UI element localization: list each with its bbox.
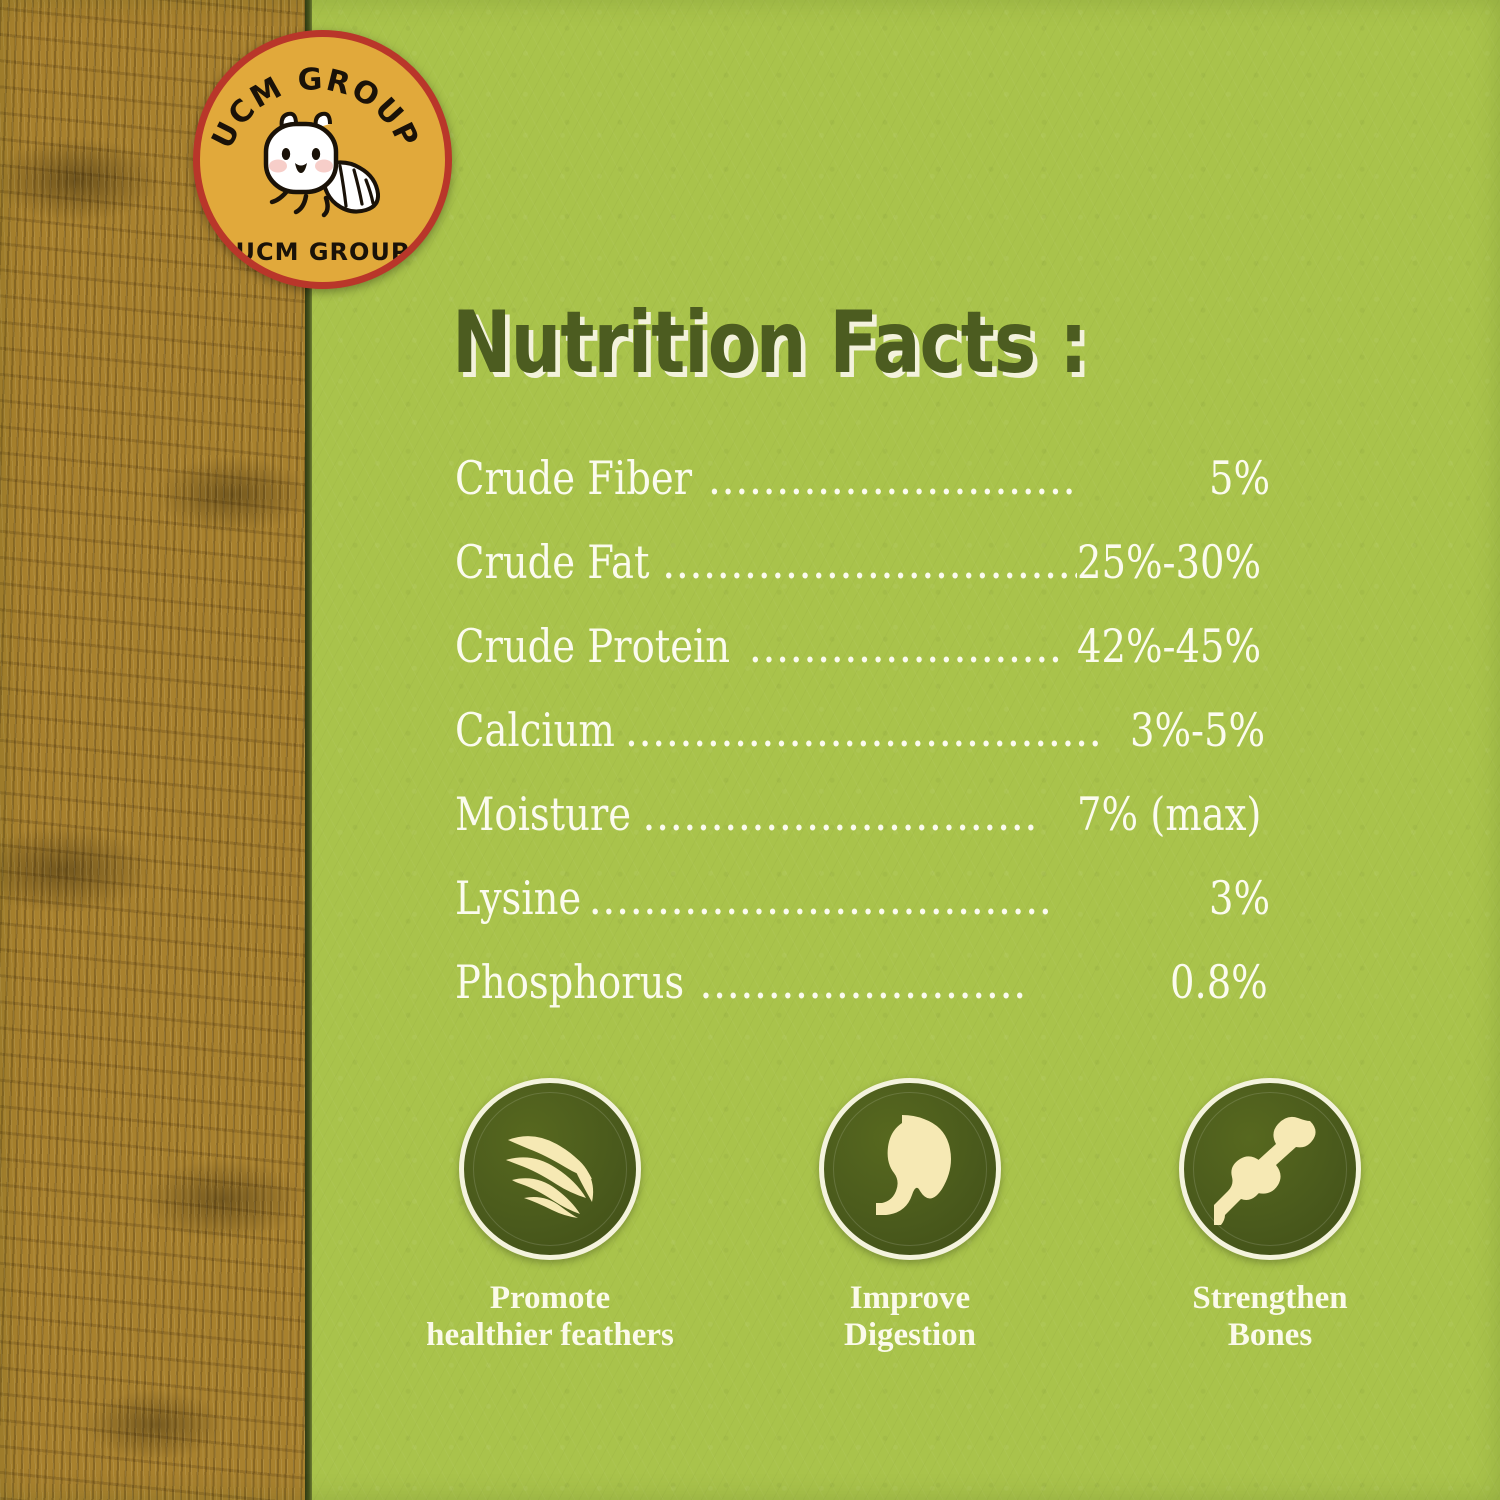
- mealworm-mascot-icon: [248, 110, 398, 218]
- fact-dot-leader: .......................: [749, 623, 1077, 669]
- stomach-icon: [862, 1111, 958, 1227]
- benefit-improve-digestion: Improve Digestion: [760, 1078, 1060, 1354]
- benefit-label: Promote healthier feathers: [426, 1280, 674, 1354]
- fact-value: 42%-45%: [1077, 623, 1261, 669]
- fact-label: Phosphorus: [455, 959, 684, 1005]
- benefits-row: Promote healthier feathers Improve Diges…: [400, 1078, 1420, 1354]
- fact-value: 5%: [1209, 455, 1270, 501]
- logo-bottom-text: UCM GROUP: [200, 238, 445, 266]
- ucm-group-logo-badge: UCM GROUP UCM GROU: [193, 30, 452, 289]
- fact-row: Phosphorus ........................ 0.8%: [455, 959, 1275, 1043]
- fact-dot-leader: ..................................: [589, 875, 1210, 921]
- fact-value: 0.8%: [1170, 959, 1268, 1005]
- fact-label: Crude Fiber: [455, 455, 692, 501]
- fact-row: Crude Fat ..............................…: [455, 539, 1275, 623]
- nutrition-facts-list: Crude Fiber ........................... …: [455, 455, 1275, 1043]
- fact-label: Lysine: [455, 875, 581, 921]
- fact-dot-leader: ...........................: [708, 455, 1209, 501]
- fact-value: 25%-30%: [1077, 539, 1261, 585]
- benefit-promote-healthier-feathers: Promote healthier feathers: [400, 1078, 700, 1354]
- fact-dot-leader: ...............................: [662, 539, 1077, 585]
- fact-row: Moisture ............................. 7…: [455, 791, 1275, 875]
- fact-row: Lysine .................................…: [455, 875, 1275, 959]
- fact-label: Moisture: [455, 791, 631, 837]
- fact-row: Calcium ................................…: [455, 707, 1275, 791]
- benefit-icon-circle: [1179, 1078, 1361, 1260]
- benefit-icon-circle: [459, 1078, 641, 1260]
- benefit-label: Improve Digestion: [844, 1280, 976, 1354]
- fact-value: 3%-5%: [1130, 707, 1265, 753]
- fact-dot-leader: ...................................: [625, 707, 1130, 753]
- fact-row: Crude Protein ....................... 42…: [455, 623, 1275, 707]
- fact-value: 7% (max): [1077, 791, 1261, 837]
- nutrition-facts-poster: UCM GROUP UCM GROU: [0, 0, 1500, 1500]
- fact-value: 3%: [1209, 875, 1270, 921]
- benefit-strengthen-bones: Strengthen Bones: [1120, 1078, 1420, 1354]
- page-title: Nutrition Facts :: [452, 300, 1087, 386]
- feather-wing-icon: [496, 1120, 604, 1218]
- fact-row: Crude Fiber ........................... …: [455, 455, 1275, 539]
- fact-label: Crude Protein: [455, 623, 730, 669]
- benefit-label: Strengthen Bones: [1192, 1280, 1347, 1354]
- bone-joint-icon: [1214, 1113, 1326, 1225]
- fact-label: Calcium: [455, 707, 615, 753]
- benefit-icon-circle: [819, 1078, 1001, 1260]
- fact-dot-leader: .............................: [642, 791, 1076, 837]
- fact-label: Crude Fat: [455, 539, 649, 585]
- fact-dot-leader: ........................: [699, 959, 1170, 1005]
